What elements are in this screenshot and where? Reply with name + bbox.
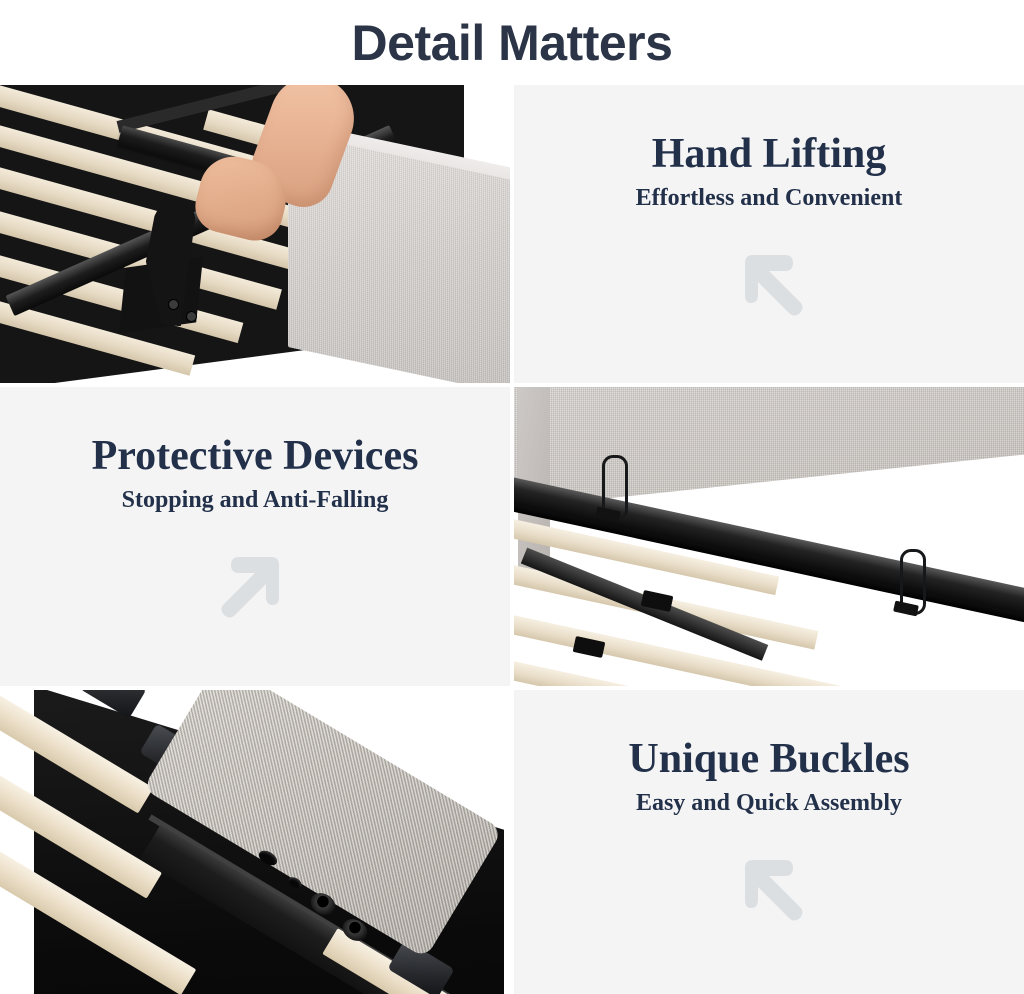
frame-bolt <box>168 299 179 310</box>
feature-text-protective-devices: Protective Devices Stopping and Anti-Fal… <box>0 387 510 686</box>
frame-bolt <box>186 311 197 322</box>
unique-buckles-illustration <box>0 690 510 994</box>
infographic-page: Detail Matters <box>0 0 1024 994</box>
feature-heading: Protective Devices <box>92 433 419 480</box>
feature-subheading: Stopping and Anti-Falling <box>122 486 389 515</box>
upholstered-headboard <box>514 387 1024 509</box>
page-title: Detail Matters <box>352 18 673 68</box>
feature-subheading: Easy and Quick Assembly <box>636 789 902 818</box>
feature-grid: Hand Lifting Effortless and Convenient P… <box>0 85 1024 994</box>
title-bar: Detail Matters <box>0 0 1024 85</box>
hand-lifting-illustration <box>0 85 510 383</box>
photo-protective-devices <box>514 387 1024 686</box>
photo-hand-lifting <box>0 85 510 383</box>
photo-unique-buckles <box>0 690 510 994</box>
feature-subheading: Effortless and Convenient <box>636 184 903 213</box>
protective-hooks-illustration <box>514 387 1024 686</box>
arrow-up-left-icon <box>721 840 817 936</box>
arrow-up-left-icon <box>721 235 817 331</box>
feature-heading: Unique Buckles <box>628 736 909 783</box>
feature-heading: Hand Lifting <box>652 131 887 178</box>
feature-text-hand-lifting: Hand Lifting Effortless and Convenient <box>514 85 1024 383</box>
arrow-up-right-icon <box>207 537 303 633</box>
feature-text-unique-buckles: Unique Buckles Easy and Quick Assembly <box>514 690 1024 994</box>
